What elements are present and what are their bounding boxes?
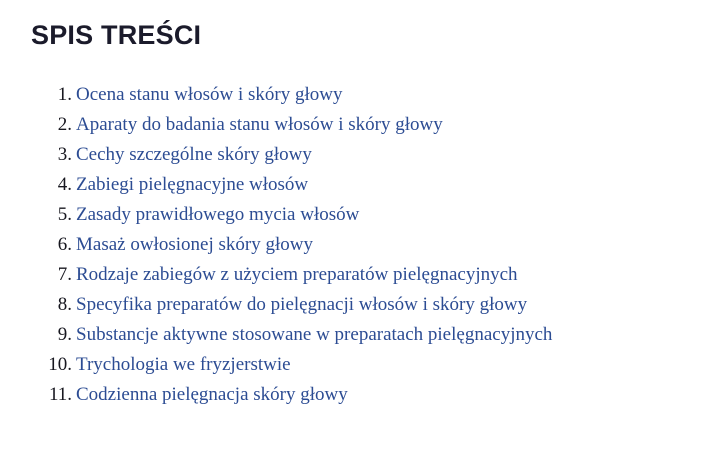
list-item-label[interactable]: Specyfika preparatów do pielęgnacji włos… xyxy=(72,290,527,320)
list-item-label[interactable]: Zasady prawidłowego mycia włosów xyxy=(72,200,359,230)
list-item-number: 1. xyxy=(0,80,72,110)
list-item-label[interactable]: Zabiegi pielęgnacyjne włosów xyxy=(72,170,308,200)
list-item-label[interactable]: Substancje aktywne stosowane w preparata… xyxy=(72,320,552,350)
list-item-label[interactable]: Cechy szczególne skóry głowy xyxy=(72,140,312,170)
list-item[interactable]: 9. Substancje aktywne stosowane w prepar… xyxy=(0,320,552,350)
table-of-contents-page: SPIS TREŚCI 1. Ocena stanu włosów i skór… xyxy=(0,0,716,450)
list-item[interactable]: 3. Cechy szczególne skóry głowy xyxy=(0,140,552,170)
list-item-number: 2. xyxy=(0,110,72,140)
list-item-number: 11. xyxy=(0,380,72,410)
list-item-label[interactable]: Codzienna pielęgnacja skóry głowy xyxy=(72,380,348,410)
list-item-number: 10. xyxy=(0,350,72,380)
list-item-label[interactable]: Ocena stanu włosów i skóry głowy xyxy=(72,80,343,110)
list-item[interactable]: 4. Zabiegi pielęgnacyjne włosów xyxy=(0,170,552,200)
list-item-number: 4. xyxy=(0,170,72,200)
list-item-number: 3. xyxy=(0,140,72,170)
list-item[interactable]: 8. Specyfika preparatów do pielęgnacji w… xyxy=(0,290,552,320)
list-item-label[interactable]: Trychologia we fryzjerstwie xyxy=(72,350,291,380)
list-item-number: 5. xyxy=(0,200,72,230)
list-item[interactable]: 11. Codzienna pielęgnacja skóry głowy xyxy=(0,380,552,410)
list-item-label[interactable]: Rodzaje zabiegów z użyciem preparatów pi… xyxy=(72,260,518,290)
list-item[interactable]: 2. Aparaty do badania stanu włosów i skó… xyxy=(0,110,552,140)
list-item[interactable]: 6. Masaż owłosionej skóry głowy xyxy=(0,230,552,260)
list-item[interactable]: 1. Ocena stanu włosów i skóry głowy xyxy=(0,80,552,110)
page-title: SPIS TREŚCI xyxy=(31,19,201,51)
list-item-number: 7. xyxy=(0,260,72,290)
list-item[interactable]: 7. Rodzaje zabiegów z użyciem preparatów… xyxy=(0,260,552,290)
list-item-label[interactable]: Masaż owłosionej skóry głowy xyxy=(72,230,313,260)
list-item[interactable]: 5. Zasady prawidłowego mycia włosów xyxy=(0,200,552,230)
list-item-number: 9. xyxy=(0,320,72,350)
table-of-contents-list: 1. Ocena stanu włosów i skóry głowy 2. A… xyxy=(0,80,552,410)
list-item-label[interactable]: Aparaty do badania stanu włosów i skóry … xyxy=(72,110,443,140)
list-item-number: 8. xyxy=(0,290,72,320)
list-item-number: 6. xyxy=(0,230,72,260)
list-item[interactable]: 10. Trychologia we fryzjerstwie xyxy=(0,350,552,380)
